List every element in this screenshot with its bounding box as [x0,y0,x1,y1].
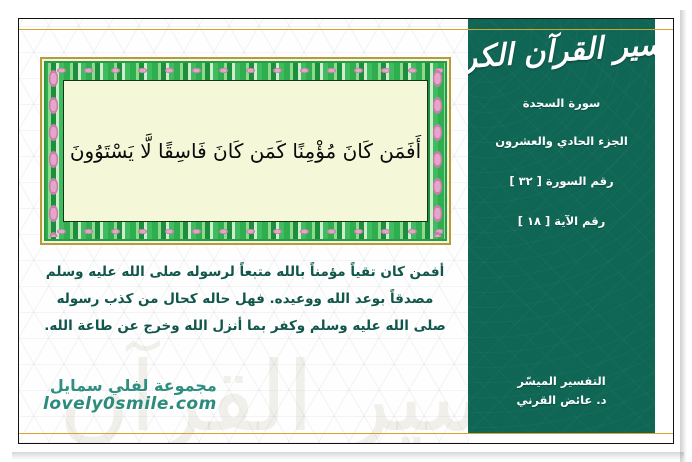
surah-name-label: سورة السجدة [523,96,601,110]
frame-flower-strip-left [46,65,61,237]
verse-panel: أَفَمَن كَانَ مُؤْمِنًا كَمَن كَانَ فَاس… [63,80,428,222]
main-content-area: تفسير القرآن أَفَمَن كَانَ مُؤْمِنًا كَم… [19,19,469,443]
source-author-label: د. عائض القرني [468,391,655,410]
watermark-url-text: lovely0smile.com [43,395,217,415]
tafsir-card: تفسير القرآن أَفَمَن كَانَ مُؤْمِنًا كَم… [0,0,692,462]
info-side-panel: تفسير القرآن الكريم سورة السجدة الجزء ال… [468,19,655,434]
sheet-shadow-bottom [12,452,684,460]
site-watermark: مجموعة لفلي سمايل lovely0smile.com [43,377,217,415]
quran-verse-text: أَفَمَن كَانَ مُؤْمِنًا كَمَن كَانَ فَاس… [70,132,421,170]
gold-rule-top [19,29,673,30]
juz-label: الجزء الحادي والعشرون [495,134,628,148]
watermark-arabic-text: مجموعة لفلي سمايل [43,377,217,395]
book-title-calligraphy: تفسير القرآن الكريم [468,26,655,78]
ayah-number-label: رقم الآية [ ١٨ ] [518,214,606,228]
source-attribution: التفسير الميسّر د. عائض القرني [468,372,655,410]
surah-number-label: رقم السورة [ ٣٢ ] [509,174,613,188]
gold-rule-bottom [19,433,673,434]
tafsir-paragraph: أفمن كان تقياً مؤمناً بالله متبعاً لرسول… [41,259,449,340]
verse-ornamental-frame: أَفَمَن كَانَ مُؤْمِنًا كَمَن كَانَ فَاس… [40,57,451,245]
source-name-label: التفسير الميسّر [468,372,655,391]
sheet-shadow-right [680,10,687,462]
frame-flower-strip-right [430,65,445,237]
